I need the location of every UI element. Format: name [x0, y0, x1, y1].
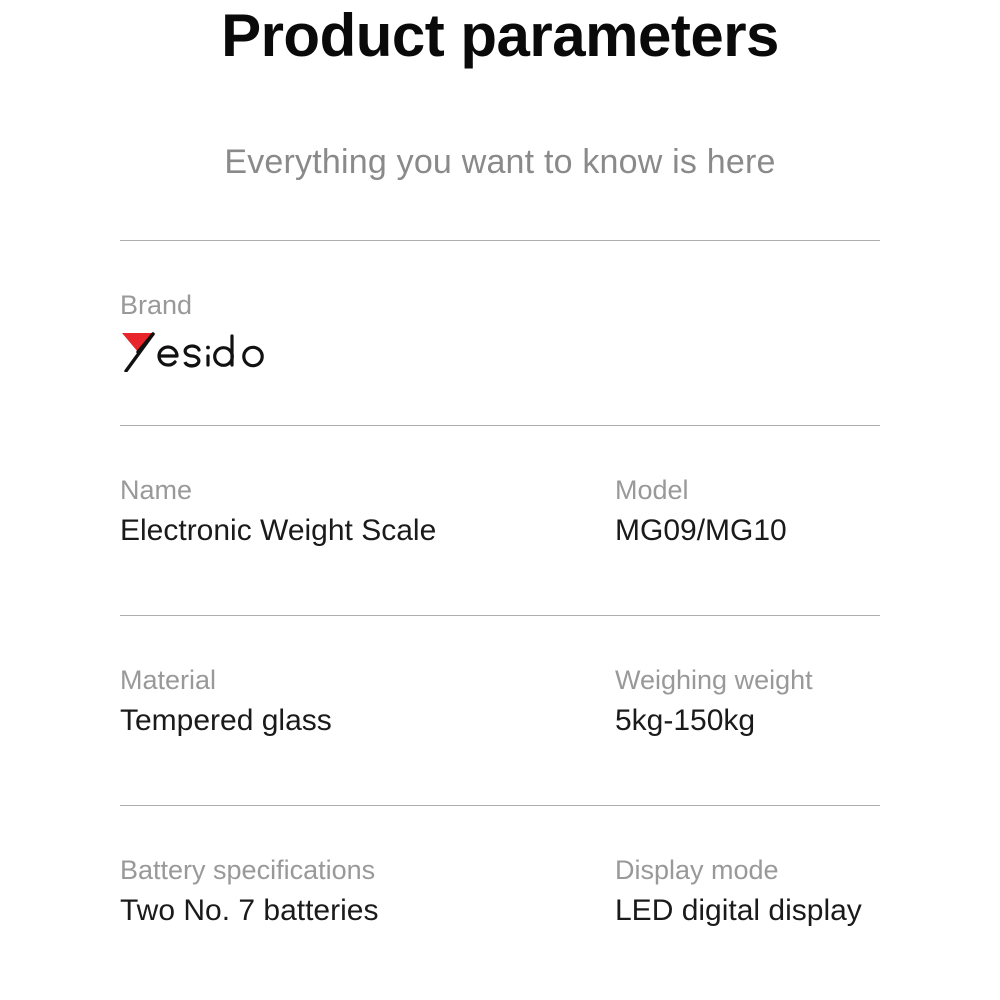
spec-cell-model: Model MG09/MG10 — [615, 474, 880, 550]
spec-cell-name: Name Electronic Weight Scale — [120, 474, 615, 550]
spec-cell-weighing-weight: Weighing weight 5kg-150kg — [615, 664, 880, 740]
spec-label: Name — [120, 474, 615, 507]
spec-cell-material: Material Tempered glass — [120, 664, 615, 740]
red-triangle-icon — [122, 333, 154, 352]
spec-value: LED digital display — [615, 887, 880, 930]
product-parameters-page: Product parameters Everything you want t… — [0, 0, 1000, 1000]
spec-sheet: Brand — [120, 240, 880, 956]
spec-label: Battery specifications — [120, 854, 615, 887]
spec-row-3: Battery specifications Two No. 7 batteri… — [120, 806, 880, 956]
spec-row-1: Name Electronic Weight Scale Model MG09/… — [120, 426, 880, 615]
spec-value: Two No. 7 batteries — [120, 887, 615, 930]
yesido-logo-icon — [120, 330, 276, 372]
brand-logo — [120, 322, 276, 376]
spec-row-2: Material Tempered glass Weighing weight … — [120, 616, 880, 805]
spec-value: Electronic Weight Scale — [120, 507, 615, 550]
spec-label: Display mode — [615, 854, 880, 887]
brand-cell: Brand — [120, 289, 615, 381]
spec-value: Tempered glass — [120, 697, 615, 740]
spec-value: MG09/MG10 — [615, 507, 880, 550]
page-subtitle: Everything you want to know is here — [0, 70, 1000, 182]
spec-cell-display-mode: Display mode LED digital display — [615, 854, 880, 930]
brand-row: Brand — [120, 241, 880, 425]
spec-label: Material — [120, 664, 615, 697]
brand-label: Brand — [120, 289, 615, 322]
spec-label: Weighing weight — [615, 664, 880, 697]
spec-value: 5kg-150kg — [615, 697, 880, 740]
spec-label: Model — [615, 474, 880, 507]
spec-cell-battery: Battery specifications Two No. 7 batteri… — [120, 854, 615, 930]
page-header: Product parameters Everything you want t… — [0, 0, 1000, 182]
page-title: Product parameters — [0, 2, 1000, 70]
